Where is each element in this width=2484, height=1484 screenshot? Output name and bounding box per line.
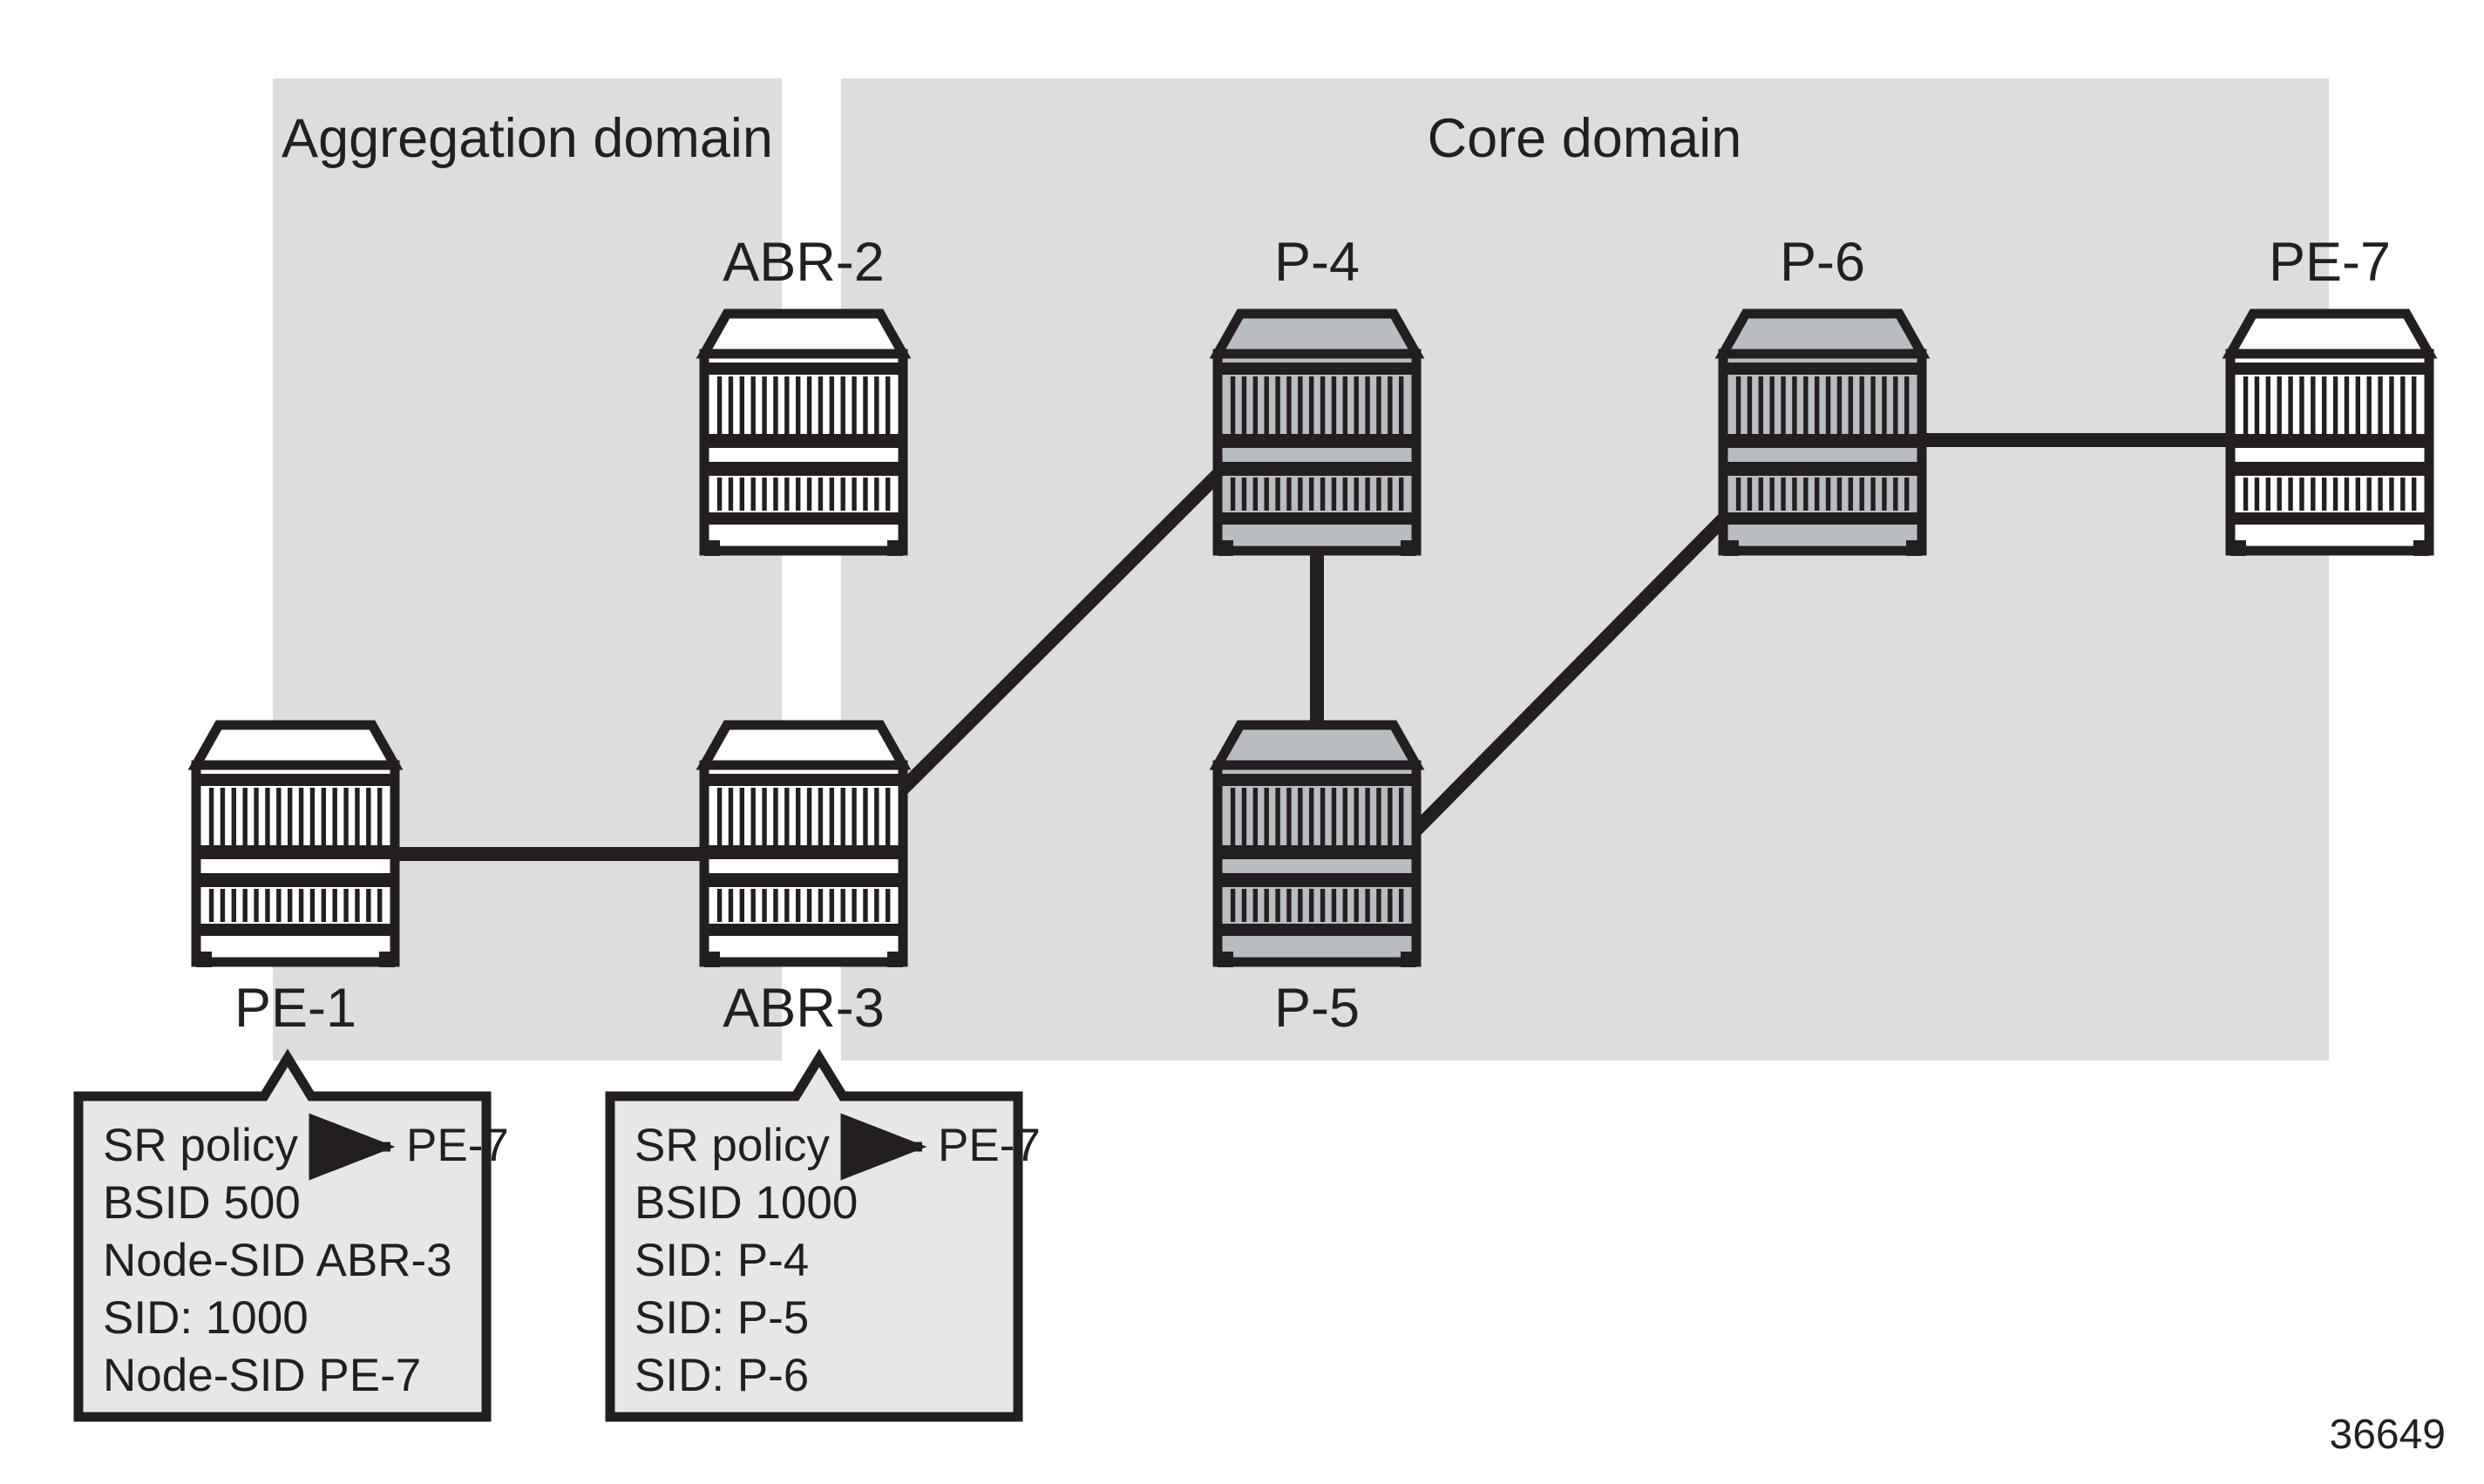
router-foot-left	[1723, 540, 1739, 556]
router-vent-slot	[2255, 376, 2259, 434]
router-vent-slot	[1320, 376, 1325, 434]
callout-line-text: SID: P-4	[635, 1235, 809, 1286]
router-vent-slot	[1376, 788, 1381, 845]
router-vent-slot	[1264, 889, 1268, 922]
router-vent-slot	[377, 889, 382, 922]
router-vent-slot	[288, 889, 292, 922]
router-vent-slot	[1736, 478, 1741, 511]
router-vent-slot	[1332, 788, 1336, 845]
router-vent-slot	[886, 376, 890, 434]
router-divider	[1218, 845, 1416, 859]
router-vent-slot	[750, 478, 755, 511]
router-vent-slot	[874, 376, 879, 434]
router-vent-slot	[1365, 376, 1369, 434]
router-divider	[196, 774, 395, 786]
router-vent-slot	[2322, 478, 2326, 511]
router-foot-left	[196, 952, 212, 967]
router-vent-slot	[1399, 889, 1403, 922]
node-pe-1[interactable]	[196, 725, 395, 967]
router-vent-slot	[729, 478, 733, 511]
router-vent-slot	[830, 889, 834, 922]
router-vent-slot	[2356, 478, 2360, 511]
router-vent-slot	[2266, 478, 2270, 511]
router-vent-slot	[2299, 376, 2304, 434]
callout-line-text: Node-SID PE-7	[103, 1350, 421, 1401]
callout-pe-1[interactable]: SR policyPE-7BSID 500Node-SID ABR-3SID: …	[78, 1058, 509, 1417]
router-vent-slot	[2243, 478, 2248, 511]
router-vent-slot	[1309, 478, 1313, 511]
node-label-pe-7: PE-7	[2269, 232, 2391, 293]
router-vent-slot	[852, 478, 856, 511]
router-lid	[2230, 314, 2429, 354]
router-divider	[704, 873, 903, 887]
router-vent-slot	[818, 889, 823, 922]
router-vent-slot	[1354, 376, 1358, 434]
router-lid	[1723, 314, 1922, 354]
router-divider	[196, 924, 395, 936]
router-vent-slot	[1309, 376, 1313, 434]
router-divider	[1218, 774, 1416, 786]
router-vent-slot	[740, 889, 744, 922]
router-vent-slot	[1759, 376, 1763, 434]
router-divider	[1723, 363, 1922, 375]
router-vent-slot	[762, 478, 766, 511]
router-vent-slot	[1286, 376, 1291, 434]
router-vent-slot	[221, 788, 225, 845]
router-vent-slot	[1399, 788, 1403, 845]
router-vent-slot	[1242, 889, 1246, 922]
router-vent-slot	[2345, 478, 2349, 511]
node-label-pe-1: PE-1	[234, 978, 356, 1039]
router-vent-slot	[762, 376, 766, 434]
router-vent-slot	[729, 788, 733, 845]
router-vent-slot	[2288, 478, 2292, 511]
router-vent-slot	[1332, 889, 1336, 922]
router-vent-slot	[1286, 788, 1291, 845]
router-vent-slot	[1320, 478, 1325, 511]
router-vent-slot	[1781, 478, 1785, 511]
router-vent-slot	[332, 889, 336, 922]
router-vent-slot	[288, 788, 292, 845]
router-vent-slot	[717, 889, 722, 922]
node-p-5[interactable]	[1218, 725, 1416, 967]
router-foot-left	[704, 952, 720, 967]
node-label-p-6: P-6	[1780, 232, 1865, 293]
router-vent-slot	[2288, 376, 2292, 434]
router-vent-slot	[1365, 478, 1369, 511]
router-vent-slot	[773, 478, 777, 511]
router-vent-slot	[1904, 478, 1909, 511]
router-vent-slot	[1309, 889, 1313, 922]
router-vent-slot	[750, 788, 755, 845]
router-divider	[704, 924, 903, 936]
node-label-p-4: P-4	[1274, 232, 1360, 293]
router-vent-slot	[2277, 376, 2281, 434]
router-vent-slot	[2266, 376, 2270, 434]
node-abr-2[interactable]	[704, 314, 903, 556]
router-vent-slot	[1859, 376, 1863, 434]
router-vent-slot	[886, 788, 890, 845]
router-vent-slot	[254, 889, 258, 922]
network-diagram-canvas: Aggregation domainCore domain PE-1ABR-2A…	[0, 0, 2484, 1484]
router-lid	[704, 314, 903, 354]
router-vent-slot	[830, 788, 834, 845]
router-vent-slot	[1748, 376, 1752, 434]
router-vent-slot	[1904, 376, 1909, 434]
router-vent-slot	[366, 889, 370, 922]
router-vent-slot	[2311, 376, 2315, 434]
router-vent-slot	[1399, 478, 1403, 511]
callout-line-text: SR policy	[103, 1120, 298, 1171]
router-vent-slot	[2255, 478, 2259, 511]
callout-line-text: SID: 1000	[103, 1292, 309, 1344]
router-vent-slot	[717, 376, 722, 434]
router-vent-slot	[2322, 376, 2326, 434]
router-foot-right	[1401, 540, 1416, 556]
router-vent-slot	[1354, 889, 1358, 922]
router-divider	[704, 512, 903, 525]
router-vent-slot	[310, 889, 315, 922]
router-vent-slot	[2311, 478, 2315, 511]
router-lid	[704, 725, 903, 765]
router-vent-slot	[1870, 478, 1875, 511]
router-foot-right	[379, 952, 395, 967]
router-vent-slot	[276, 788, 281, 845]
router-foot-left	[1218, 952, 1233, 967]
node-label-abr-3: ABR-3	[723, 978, 885, 1039]
router-vent-slot	[1815, 376, 1819, 434]
node-p-6[interactable]	[1723, 314, 1922, 556]
router-vent-slot	[343, 788, 348, 845]
router-vent-slot	[332, 788, 336, 845]
router-vent-slot	[1320, 889, 1325, 922]
router-vent-slot	[2366, 478, 2371, 511]
router-vent-slot	[1769, 376, 1774, 434]
router-vent-slot	[2333, 376, 2338, 434]
router-vent-slot	[1859, 478, 1863, 511]
router-vent-slot	[1332, 376, 1336, 434]
router-vent-slot	[796, 478, 800, 511]
router-vent-slot	[1376, 889, 1381, 922]
router-foot-left	[704, 540, 720, 556]
router-vent-slot	[2299, 478, 2304, 511]
router-vent-slot	[1792, 376, 1796, 434]
router-vent-slot	[852, 788, 856, 845]
router-vent-slot	[355, 788, 359, 845]
router-vent-slot	[366, 788, 370, 845]
router-vent-slot	[2400, 376, 2405, 434]
router-divider	[196, 873, 395, 887]
router-vent-slot	[840, 788, 845, 845]
router-divider	[704, 774, 903, 786]
router-vent-slot	[2389, 478, 2393, 511]
router-vent-slot	[1376, 376, 1381, 434]
router-vent-slot	[1736, 376, 1741, 434]
callouts-group: SR policyPE-7BSID 500Node-SID ABR-3SID: …	[78, 1058, 1041, 1417]
router-divider	[1218, 363, 1416, 375]
router-vent-slot	[1882, 376, 1886, 434]
router-vent-slot	[2333, 478, 2338, 511]
router-vent-slot	[773, 788, 777, 845]
router-vent-slot	[1849, 478, 1853, 511]
router-vent-slot	[1298, 788, 1302, 845]
router-foot-right	[1401, 952, 1416, 967]
router-divider	[704, 363, 903, 375]
figure-id: 36649	[2330, 1412, 2446, 1458]
router-divider	[2230, 462, 2429, 476]
router-vent-slot	[1298, 478, 1302, 511]
router-vent-slot	[2345, 376, 2349, 434]
router-divider	[2230, 434, 2429, 448]
callout-line-target: PE-7	[406, 1120, 509, 1171]
router-vent-slot	[796, 376, 800, 434]
router-vent-slot	[784, 376, 789, 434]
router-vent-slot	[1748, 478, 1752, 511]
router-vent-slot	[1253, 376, 1258, 434]
router-lid	[1218, 725, 1416, 765]
router-vent-slot	[1803, 376, 1808, 434]
node-abr-3[interactable]	[704, 725, 903, 967]
node-p-4[interactable]	[1218, 314, 1416, 556]
diagram-svg: Aggregation domainCore domain PE-1ABR-2A…	[0, 0, 2484, 1484]
router-foot-right	[887, 952, 903, 967]
router-vent-slot	[1231, 478, 1235, 511]
router-vent-slot	[299, 889, 303, 922]
router-vent-slot	[1286, 478, 1291, 511]
router-vent-slot	[863, 788, 867, 845]
router-vent-slot	[1388, 889, 1392, 922]
router-vent-slot	[1365, 889, 1369, 922]
router-vent-slot	[886, 889, 890, 922]
callout-line-text: SR policy	[635, 1120, 830, 1171]
router-vent-slot	[1376, 478, 1381, 511]
router-vent-slot	[740, 788, 744, 845]
router-vent-slot	[729, 376, 733, 434]
router-vent-slot	[265, 889, 269, 922]
router-vent-slot	[310, 788, 315, 845]
callout-line-text: BSID 500	[103, 1177, 301, 1229]
router-vent-slot	[355, 889, 359, 922]
router-vent-slot	[1815, 478, 1819, 511]
node-label-p-5: P-5	[1274, 978, 1360, 1039]
router-vent-slot	[1399, 376, 1403, 434]
router-vent-slot	[1275, 889, 1279, 922]
router-divider	[704, 845, 903, 859]
router-vent-slot	[1242, 478, 1246, 511]
router-vent-slot	[276, 889, 281, 922]
callout-line-text: SID: P-6	[635, 1350, 809, 1401]
router-vent-slot	[242, 889, 247, 922]
router-vent-slot	[1298, 376, 1302, 434]
router-vent-slot	[1275, 788, 1279, 845]
router-vent-slot	[750, 889, 755, 922]
router-lid	[196, 725, 395, 765]
router-vent-slot	[1792, 478, 1796, 511]
router-vent-slot	[1388, 478, 1392, 511]
domain-label-aggregation-domain: Aggregation domain	[282, 108, 773, 169]
domain-band-core-domain: Core domain	[841, 78, 2329, 1060]
router-vent-slot	[1309, 788, 1313, 845]
router-vent-slot	[232, 889, 236, 922]
router-vent-slot	[1882, 478, 1886, 511]
router-vent-slot	[1231, 889, 1235, 922]
router-vent-slot	[254, 788, 258, 845]
router-foot-left	[1218, 540, 1233, 556]
router-divider	[1218, 512, 1416, 525]
router-divider	[704, 434, 903, 448]
router-vent-slot	[1769, 478, 1774, 511]
router-vent-slot	[1826, 376, 1830, 434]
router-vent-slot	[807, 478, 811, 511]
router-vent-slot	[2378, 478, 2382, 511]
router-divider	[1218, 873, 1416, 887]
router-vent-slot	[1242, 788, 1246, 845]
router-vent-slot	[1286, 889, 1291, 922]
router-vent-slot	[717, 478, 722, 511]
router-vent-slot	[773, 376, 777, 434]
router-vent-slot	[840, 889, 845, 922]
router-vent-slot	[2277, 478, 2281, 511]
router-vent-slot	[863, 889, 867, 922]
router-vent-slot	[2378, 376, 2382, 434]
router-vent-slot	[762, 788, 766, 845]
router-vent-slot	[784, 478, 789, 511]
callout-line-target: PE-7	[938, 1120, 1041, 1171]
domain-band-rect	[841, 78, 2329, 1060]
router-vent-slot	[242, 788, 247, 845]
router-vent-slot	[209, 889, 214, 922]
router-vent-slot	[2412, 478, 2416, 511]
router-vent-slot	[1343, 889, 1347, 922]
router-vent-slot	[2389, 376, 2393, 434]
router-vent-slot	[377, 788, 382, 845]
router-divider	[1218, 462, 1416, 476]
router-divider	[196, 845, 395, 859]
router-vent-slot	[773, 889, 777, 922]
router-vent-slot	[863, 376, 867, 434]
router-vent-slot	[840, 376, 845, 434]
router-vent-slot	[807, 889, 811, 922]
router-vent-slot	[2400, 478, 2405, 511]
router-vent-slot	[784, 889, 789, 922]
router-vent-slot	[886, 478, 890, 511]
router-vent-slot	[874, 788, 879, 845]
router-divider	[2230, 363, 2429, 375]
router-vent-slot	[1365, 788, 1369, 845]
router-vent-slot	[1849, 376, 1853, 434]
router-vent-slot	[1343, 376, 1347, 434]
router-vent-slot	[830, 478, 834, 511]
router-vent-slot	[1343, 788, 1347, 845]
router-vent-slot	[729, 889, 733, 922]
router-vent-slot	[1332, 478, 1336, 511]
router-vent-slot	[1275, 478, 1279, 511]
router-lid	[1218, 314, 1416, 354]
router-vent-slot	[796, 788, 800, 845]
router-divider	[2230, 512, 2429, 525]
router-vent-slot	[1870, 376, 1875, 434]
node-label-abr-2: ABR-2	[723, 232, 885, 293]
router-vent-slot	[830, 376, 834, 434]
router-vent-slot	[2243, 376, 2248, 434]
router-vent-slot	[1275, 376, 1279, 434]
router-divider	[1723, 462, 1922, 476]
router-vent-slot	[1343, 478, 1347, 511]
node-pe-7[interactable]	[2230, 314, 2429, 556]
callout-line-text: SID: P-5	[635, 1292, 809, 1344]
router-foot-right	[1906, 540, 1922, 556]
router-vent-slot	[1231, 788, 1235, 845]
router-vent-slot	[762, 889, 766, 922]
router-vent-slot	[784, 788, 789, 845]
router-vent-slot	[1264, 376, 1268, 434]
router-vent-slot	[221, 889, 225, 922]
router-vent-slot	[1253, 889, 1258, 922]
router-vent-slot	[1242, 376, 1246, 434]
router-vent-slot	[807, 788, 811, 845]
router-vent-slot	[1253, 788, 1258, 845]
router-vent-slot	[750, 376, 755, 434]
router-vent-slot	[717, 788, 722, 845]
router-vent-slot	[1320, 788, 1325, 845]
figure-id-group: 36649	[2330, 1412, 2446, 1458]
router-vent-slot	[818, 478, 823, 511]
router-foot-left	[2230, 540, 2246, 556]
router-vent-slot	[1298, 889, 1302, 922]
router-vent-slot	[1231, 376, 1235, 434]
callout-abr-3[interactable]: SR policyPE-7BSID 1000SID: P-4SID: P-5SI…	[610, 1058, 1041, 1417]
router-vent-slot	[863, 478, 867, 511]
router-vent-slot	[1354, 478, 1358, 511]
router-foot-right	[887, 540, 903, 556]
router-vent-slot	[796, 889, 800, 922]
router-vent-slot	[1893, 478, 1897, 511]
router-vent-slot	[852, 376, 856, 434]
domain-label-core-domain: Core domain	[1428, 108, 1742, 169]
router-vent-slot	[1837, 376, 1842, 434]
router-vent-slot	[322, 889, 326, 922]
router-vent-slot	[874, 889, 879, 922]
router-vent-slot	[1803, 478, 1808, 511]
router-divider	[704, 462, 903, 476]
router-vent-slot	[1264, 788, 1268, 845]
router-vent-slot	[1826, 478, 1830, 511]
router-vent-slot	[1893, 376, 1897, 434]
router-vent-slot	[2366, 376, 2371, 434]
router-vent-slot	[322, 788, 326, 845]
router-vent-slot	[1388, 788, 1392, 845]
router-vent-slot	[232, 788, 236, 845]
router-vent-slot	[1759, 478, 1763, 511]
router-vent-slot	[807, 376, 811, 434]
router-vent-slot	[209, 788, 214, 845]
router-vent-slot	[1781, 376, 1785, 434]
router-vent-slot	[740, 376, 744, 434]
router-vent-slot	[818, 788, 823, 845]
router-vent-slot	[2412, 376, 2416, 434]
callout-line-text: BSID 1000	[635, 1177, 858, 1229]
router-divider	[1218, 924, 1416, 936]
router-vent-slot	[740, 478, 744, 511]
router-vent-slot	[343, 889, 348, 922]
router-divider	[1723, 434, 1922, 448]
router-vent-slot	[1388, 376, 1392, 434]
router-vent-slot	[874, 478, 879, 511]
callout-line-text: Node-SID ABR-3	[103, 1235, 452, 1286]
router-vent-slot	[1354, 788, 1358, 845]
router-vent-slot	[265, 788, 269, 845]
router-vent-slot	[2356, 376, 2360, 434]
